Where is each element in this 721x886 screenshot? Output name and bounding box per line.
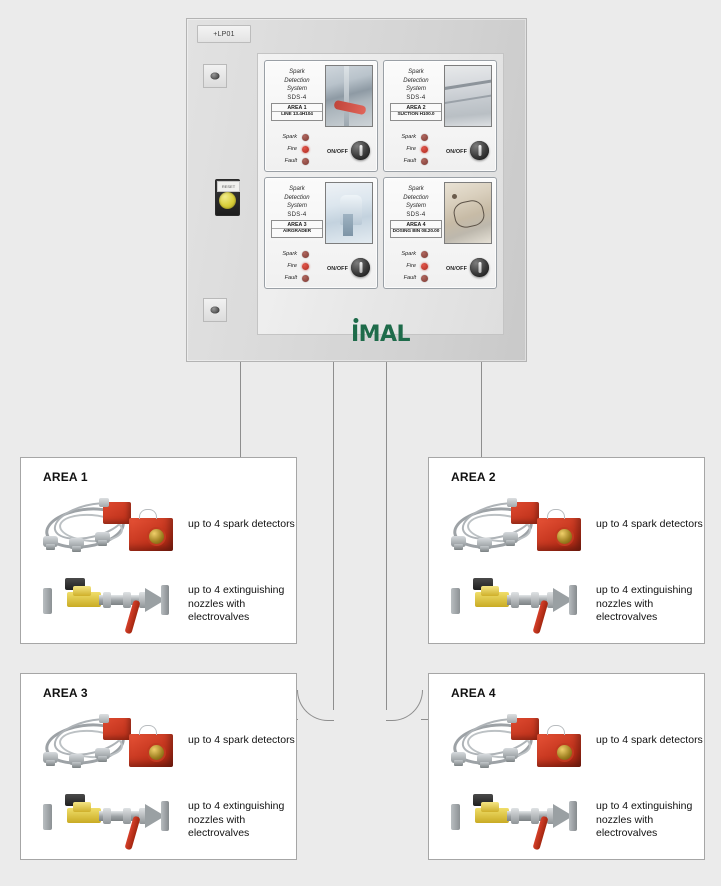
area-box-3-nozzle-caption: up to 4 extinguishing nozzles with elect… (188, 800, 296, 841)
sds-panel-area3-header: Spark Detection System SDS-4 AREA 3 AIRG… (269, 182, 373, 244)
onoff-selector-switch[interactable] (470, 141, 489, 160)
spark-detector-illustration (41, 500, 171, 560)
detector-sensor-icon (43, 750, 58, 765)
spark-detector-illustration (449, 716, 579, 776)
nozzle-joint-icon (123, 592, 131, 608)
indicator-row-fire: Fire (271, 260, 327, 272)
indicator-row-spark: Spark (390, 131, 446, 143)
nozzle-joint-icon (103, 592, 111, 608)
control-cabinet: +LP01 RESET Spark Detection System SDS-4… (186, 18, 527, 362)
fire-led-icon (421, 263, 428, 270)
area-box-3-detector-caption: up to 4 spark detectors (188, 734, 298, 748)
sds-panel-area1-indicators: Spark Fire Fault (271, 131, 327, 167)
sds-panel-area1-title: Spark Detection System SDS-4 AREA 1 LINE… (269, 65, 325, 127)
extinguishing-nozzle-illustration (451, 794, 591, 846)
fire-led-icon (302, 263, 309, 270)
area-box-2: AREA 2 up to 4 spark detectors up to 4 (428, 457, 705, 644)
indicator-row-fault: Fault (390, 272, 446, 284)
indicator-row-fire: Fire (390, 260, 446, 272)
sds-area-location: DOSING BIN 08.20.00 (391, 228, 441, 236)
cabinet-tag-label: +LP01 (197, 25, 251, 43)
nozzle-brass-body-icon (481, 586, 499, 596)
sds-panel-area2[interactable]: Spark Detection System SDS-4 AREA 2 SUCT… (383, 60, 497, 172)
sds-panel-area3[interactable]: Spark Detection System SDS-4 AREA 3 AIRG… (264, 177, 378, 289)
connector-area4-vertical (386, 360, 387, 710)
sds-title-line2: Detection (388, 77, 444, 86)
sds-title-line2: Detection (269, 194, 325, 203)
spark-detector-head-icon (129, 518, 173, 551)
connector-area4-curve (386, 690, 423, 721)
reset-lamp-icon[interactable] (219, 192, 236, 209)
sds-title-line1: Spark (269, 185, 325, 194)
detector-sensor-icon (503, 746, 518, 761)
spark-detector-head-icon (129, 734, 173, 767)
indicator-label-fire: Fire (271, 146, 302, 152)
spark-led-icon (302, 134, 309, 141)
sds-panel-area4[interactable]: Spark Detection System SDS-4 AREA 4 DOSI… (383, 177, 497, 289)
fault-led-icon (421, 275, 428, 282)
detector-sensor-icon (43, 534, 58, 549)
connector-area3-curve (297, 690, 334, 721)
sds-panel-area2-photo (444, 65, 492, 127)
sds-area-name: AREA 3 (287, 222, 306, 228)
nozzle-brass-body-icon (73, 586, 91, 596)
indicator-label-fault: Fault (271, 158, 302, 164)
connector-area3-vertical (333, 360, 334, 710)
nozzle-flange-icon (43, 804, 52, 830)
nozzle-flange-icon (451, 804, 460, 830)
sds-panel-area4-area-tag: AREA 4 DOSING BIN 08.20.00 (390, 220, 442, 237)
area-box-4-nozzle-caption: up to 4 extinguishing nozzles with elect… (596, 800, 704, 841)
indicator-label-spark: Spark (271, 134, 302, 140)
detector-junction-box-icon (103, 718, 131, 740)
detector-sensor-icon (69, 752, 84, 767)
sds-area-name: AREA 2 (406, 105, 425, 111)
imal-brand-text: IMAL (351, 322, 410, 347)
sds-area-location: SUCTION H100.0 (391, 111, 441, 119)
nozzle-tip-icon (161, 801, 169, 831)
indicator-label-spark: Spark (390, 134, 421, 140)
indicator-row-spark: Spark (271, 248, 327, 260)
connector-area1-vertical (240, 360, 241, 460)
reset-pushbutton-label: RESET (217, 181, 240, 192)
indicator-row-spark: Spark (271, 131, 327, 143)
sds-panel-area3-area-tag: AREA 3 AIRGRADER (271, 220, 323, 237)
sds-area-location: AIRGRADER (272, 228, 322, 236)
nozzle-tip-icon (161, 585, 169, 615)
indicator-row-fault: Fault (271, 155, 327, 167)
sds-title-line1: Spark (269, 68, 325, 77)
detector-junction-box-icon (511, 502, 539, 524)
indicator-row-fire: Fire (390, 143, 446, 155)
onoff-selector-switch[interactable] (470, 258, 489, 277)
detector-sensor-icon (451, 534, 466, 549)
nozzle-joint-icon (531, 808, 539, 824)
nozzle-brass-body-icon (73, 802, 91, 812)
fire-led-icon (302, 146, 309, 153)
sds-area-location: LINE 13.4H104 (272, 111, 322, 119)
area-box-4: AREA 4 up to 4 spark detectors up to 4 (428, 673, 705, 860)
nozzle-joint-icon (123, 808, 131, 824)
detector-junction-box-icon (511, 718, 539, 740)
spark-detector-illustration (449, 500, 579, 560)
sds-panel-area2-area-tag: AREA 2 SUCTION H100.0 (390, 103, 442, 120)
onoff-switch-label: ON/OFF (446, 266, 467, 272)
sds-panel-area1-area-tag: AREA 1 LINE 13.4H104 (271, 103, 323, 120)
detector-sensor-icon (95, 530, 110, 545)
indicator-row-fault: Fault (390, 155, 446, 167)
area-box-2-title: AREA 2 (451, 470, 496, 484)
spark-led-icon (421, 251, 428, 258)
area-box-2-detector-caption: up to 4 spark detectors (596, 518, 706, 532)
extinguishing-nozzle-illustration (43, 794, 183, 846)
indicator-label-fault: Fault (390, 158, 421, 164)
nozzle-joint-icon (531, 592, 539, 608)
sds-title-line3: System (269, 202, 325, 211)
fire-led-icon (421, 146, 428, 153)
sds-panel-area1[interactable]: Spark Detection System SDS-4 AREA 1 LINE… (264, 60, 378, 172)
detector-sensor-icon (95, 746, 110, 761)
area-box-1-title: AREA 1 (43, 470, 88, 484)
fault-led-icon (421, 158, 428, 165)
sds-model: SDS-4 (388, 211, 444, 220)
sds-title-line2: Detection (269, 77, 325, 86)
indicator-label-fire: Fire (271, 263, 302, 269)
sds-area-name: AREA 1 (287, 105, 306, 111)
extinguishing-nozzle-illustration (43, 578, 183, 630)
sds-title-line3: System (388, 85, 444, 94)
sds-panel-area2-header: Spark Detection System SDS-4 AREA 2 SUCT… (388, 65, 492, 127)
sds-area-name: AREA 4 (406, 222, 425, 228)
cabinet-lock-top-icon[interactable] (203, 64, 227, 88)
nozzle-joint-icon (511, 592, 519, 608)
connector-area2-vertical (481, 360, 482, 460)
area-box-1-detector-caption: up to 4 spark detectors (188, 518, 298, 532)
sds-panel-area3-indicators: Spark Fire Fault (271, 248, 327, 284)
area-box-3-title: AREA 3 (43, 686, 88, 700)
indicator-row-spark: Spark (390, 248, 446, 260)
sds-title-line1: Spark (388, 68, 444, 77)
cabinet-door-panel: Spark Detection System SDS-4 AREA 1 LINE… (257, 53, 504, 335)
area-box-4-detector-caption: up to 4 spark detectors (596, 734, 706, 748)
sds-panel-area4-indicators: Spark Fire Fault (390, 248, 446, 284)
nozzle-tip-icon (569, 585, 577, 615)
onoff-switch-label: ON/OFF (446, 149, 467, 155)
indicator-label-spark: Spark (271, 251, 302, 257)
diagram-canvas: +LP01 RESET Spark Detection System SDS-4… (0, 0, 721, 886)
spark-led-icon (421, 134, 428, 141)
spark-led-icon (302, 251, 309, 258)
imal-logo-dot-icon (353, 318, 358, 323)
sds-title-line1: Spark (388, 185, 444, 194)
area-box-2-nozzle-caption: up to 4 extinguishing nozzles with elect… (596, 584, 704, 625)
area-box-1-nozzle-caption: up to 4 extinguishing nozzles with elect… (188, 584, 296, 625)
spark-detector-head-icon (537, 734, 581, 767)
onoff-switch-label: ON/OFF (327, 266, 348, 272)
nozzle-joint-icon (511, 808, 519, 824)
cabinet-lock-bottom-icon[interactable] (203, 298, 227, 322)
fault-led-icon (302, 158, 309, 165)
detector-junction-box-icon (103, 502, 131, 524)
sds-panel-area1-photo (325, 65, 373, 127)
sds-panel-area4-title: Spark Detection System SDS-4 AREA 4 DOSI… (388, 182, 444, 244)
sds-panel-area4-header: Spark Detection System SDS-4 AREA 4 DOSI… (388, 182, 492, 244)
sds-panel-area1-header: Spark Detection System SDS-4 AREA 1 LINE… (269, 65, 373, 127)
area-box-1: AREA 1 up to 4 spark detectors up to 4 (20, 457, 297, 644)
spark-detector-head-icon (537, 518, 581, 551)
onoff-selector-switch[interactable] (351, 258, 370, 277)
onoff-selector-switch[interactable] (351, 141, 370, 160)
fault-led-icon (302, 275, 309, 282)
area-box-4-title: AREA 4 (451, 686, 496, 700)
spark-detector-illustration (41, 716, 171, 776)
sds-model: SDS-4 (388, 94, 444, 103)
sds-title-line3: System (269, 85, 325, 94)
indicator-label-fire: Fire (390, 263, 421, 269)
sds-model: SDS-4 (269, 94, 325, 103)
indicator-label-spark: Spark (390, 251, 421, 257)
sds-model: SDS-4 (269, 211, 325, 220)
sds-panel-area2-indicators: Spark Fire Fault (390, 131, 446, 167)
sds-panel-area4-photo (444, 182, 492, 244)
area-box-3: AREA 3 up to 4 spark detectors up to 4 (20, 673, 297, 860)
nozzle-joint-icon (103, 808, 111, 824)
indicator-row-fault: Fault (271, 272, 327, 284)
detector-sensor-icon (451, 750, 466, 765)
nozzle-tip-icon (569, 801, 577, 831)
extinguishing-nozzle-illustration (451, 578, 591, 630)
nozzle-flange-icon (451, 588, 460, 614)
detector-sensor-icon (477, 536, 492, 551)
sds-panel-area3-photo (325, 182, 373, 244)
indicator-label-fault: Fault (390, 275, 421, 281)
nozzle-brass-body-icon (481, 802, 499, 812)
detector-sensor-icon (477, 752, 492, 767)
sds-title-line3: System (388, 202, 444, 211)
reset-pushbutton[interactable]: RESET (215, 179, 240, 216)
nozzle-flange-icon (43, 588, 52, 614)
indicator-row-fire: Fire (271, 143, 327, 155)
detector-sensor-icon (69, 536, 84, 551)
onoff-switch-label: ON/OFF (327, 149, 348, 155)
imal-brand-logo: IMAL (351, 322, 410, 347)
sds-panel-area2-title: Spark Detection System SDS-4 AREA 2 SUCT… (388, 65, 444, 127)
indicator-label-fault: Fault (271, 275, 302, 281)
sds-title-line2: Detection (388, 194, 444, 203)
indicator-label-fire: Fire (390, 146, 421, 152)
sds-panel-area3-title: Spark Detection System SDS-4 AREA 3 AIRG… (269, 182, 325, 244)
detector-sensor-icon (503, 530, 518, 545)
